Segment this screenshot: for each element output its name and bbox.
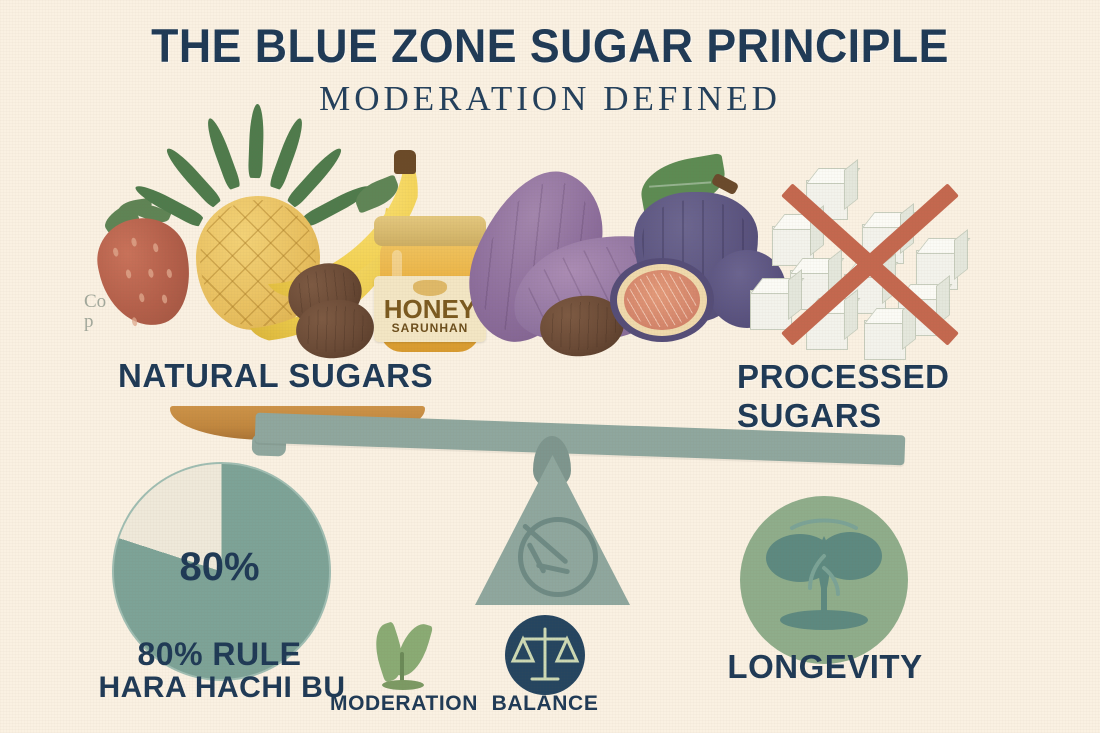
longevity-label: LONGEVITY	[700, 648, 950, 686]
banana-stem	[394, 150, 416, 174]
infographic-canvas: THE BLUE ZONE SUGAR PRINCIPLE MODERATION…	[0, 0, 1100, 733]
honey-sub-brand: SARUNHAN	[374, 321, 486, 335]
page-subtitle: MODERATION DEFINED	[0, 79, 1100, 119]
plant-growth-icon	[740, 496, 908, 664]
pie-title: 80% RULE	[112, 636, 327, 673]
processed-sugars-label-line1: PROCESSED	[737, 357, 950, 396]
page-title: THE BLUE ZONE SUGAR PRINCIPLE	[28, 18, 1073, 73]
x-cross-icon	[766, 160, 974, 360]
fig-flesh	[624, 270, 700, 330]
sprout-stem	[400, 652, 404, 682]
watermark-text: Co p	[84, 292, 106, 332]
processed-sugars-label-line2: SUGARS	[737, 396, 950, 435]
natural-sugars-label: NATURAL SUGARS	[118, 357, 433, 395]
honey-jar-lid	[374, 216, 486, 246]
moderation-label: MODERATION	[324, 692, 484, 716]
sprout-soil	[382, 680, 424, 690]
balance-label: BALANCE	[470, 692, 620, 716]
sprout-icon	[362, 622, 442, 688]
processed-sugars-label: PROCESSED SUGARS	[737, 357, 950, 435]
scales-icon	[505, 615, 585, 695]
pie-center-value: 80%	[112, 545, 327, 590]
fig-halved	[610, 258, 714, 342]
